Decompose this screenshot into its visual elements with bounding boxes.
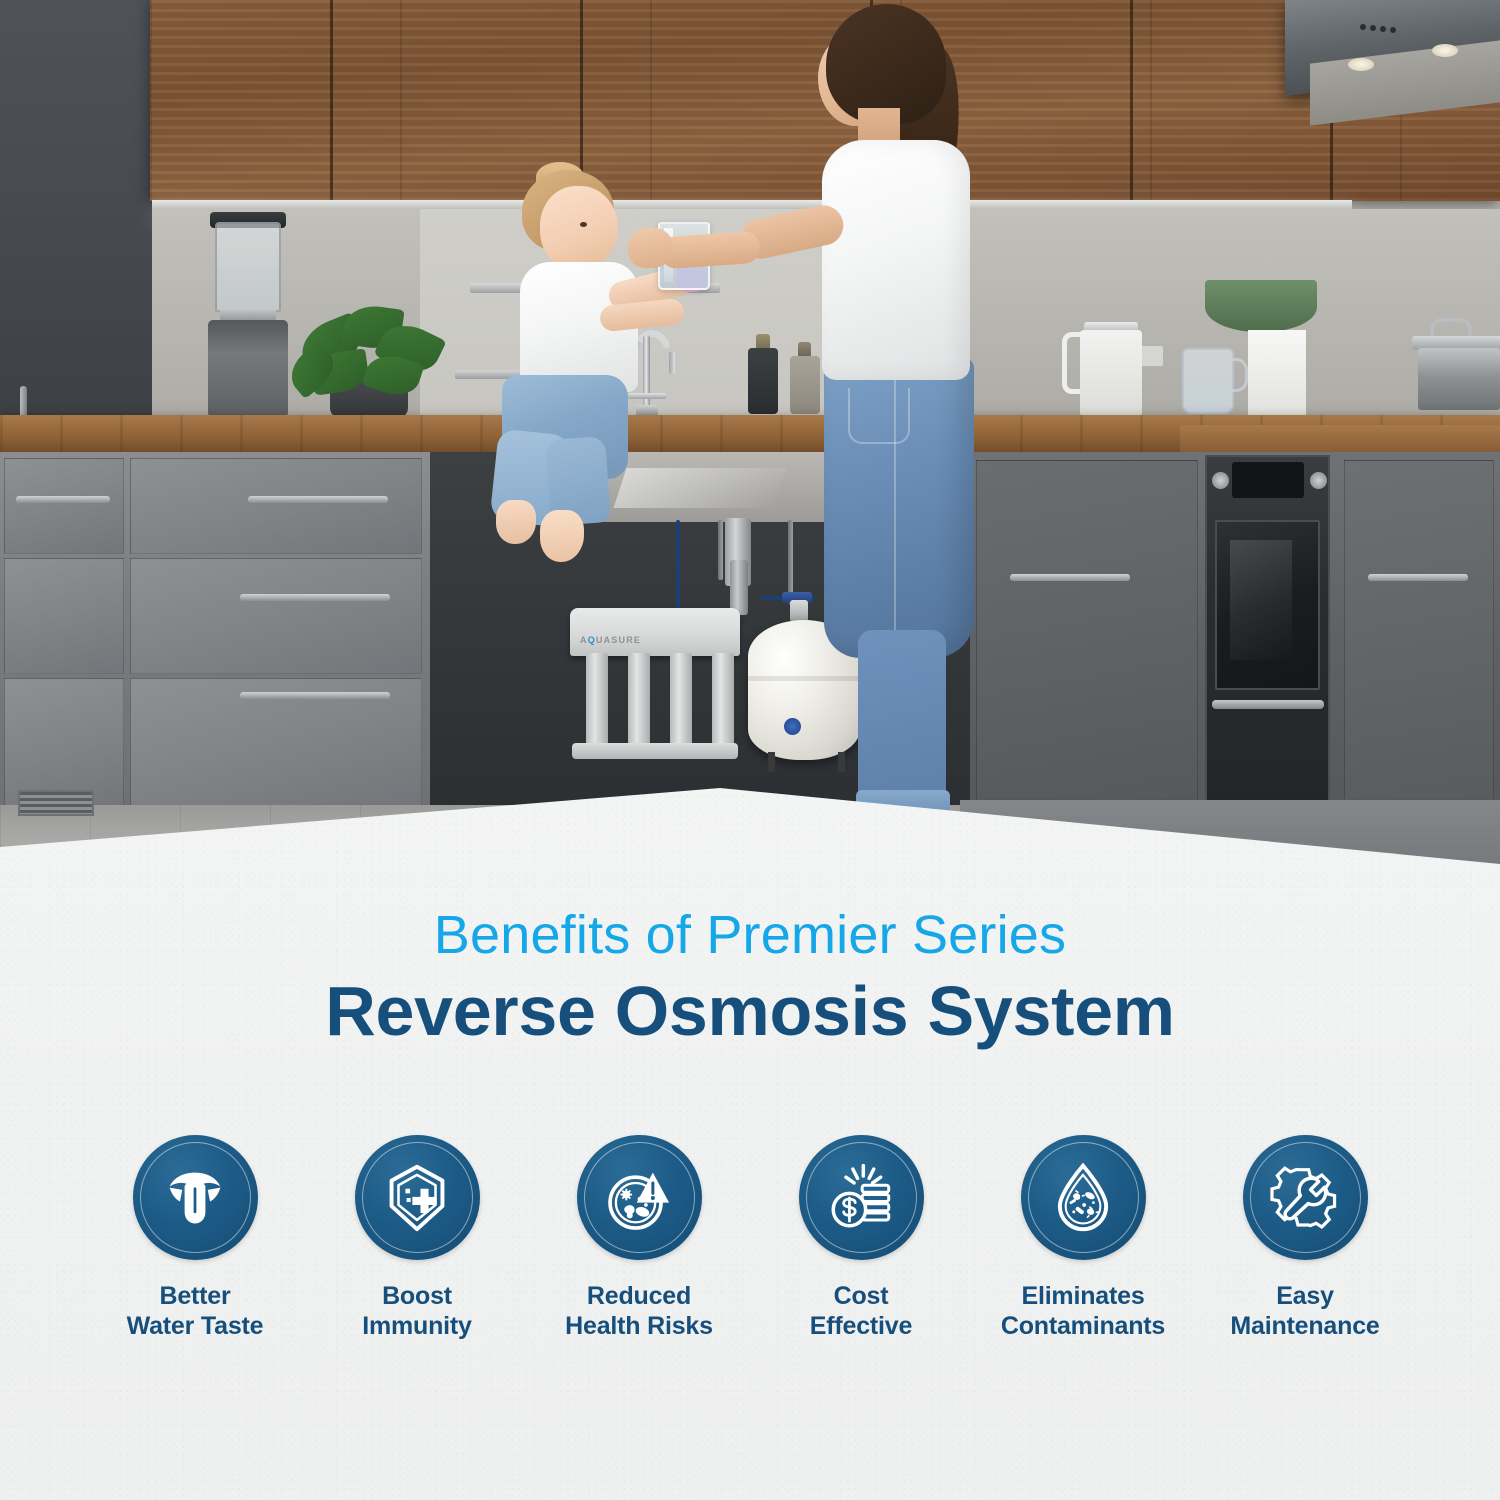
woman-figure	[800, 0, 1050, 870]
stainless-pot	[1418, 348, 1500, 410]
benefit-label-line1: Eliminates	[1001, 1282, 1165, 1312]
glass-pitcher	[1182, 348, 1234, 414]
woman-hand	[628, 228, 672, 268]
under-cabinet-light	[152, 200, 1352, 209]
oven-display	[1232, 462, 1304, 498]
soap-dispenser	[748, 348, 778, 414]
upper-cabinet-left	[0, 0, 152, 426]
benefit-label: Easy Maintenance	[1230, 1282, 1379, 1341]
ro-base-tray	[572, 743, 738, 759]
kitchen-photo: AQUASURE	[0, 0, 1500, 900]
benefit-icon-bubble	[577, 1135, 702, 1260]
benefit-label-line1: Cost	[810, 1282, 912, 1312]
benefit-label-line1: Reduced	[565, 1282, 713, 1312]
benefit-item-eliminates-contaminants[interactable]: Eliminates Contaminants	[972, 1135, 1194, 1341]
benefit-label: Cost Effective	[810, 1282, 912, 1341]
ro-filter-cartridge	[712, 653, 734, 745]
benefit-label: Better Water Taste	[127, 1282, 264, 1341]
benefit-label: Eliminates Contaminants	[1001, 1282, 1165, 1341]
base-cabinets-left	[0, 452, 430, 812]
blender-jar	[215, 222, 281, 312]
benefit-icon-bubble	[1021, 1135, 1146, 1260]
benefit-label-line1: Easy	[1230, 1282, 1379, 1312]
green-bowl	[1205, 280, 1317, 332]
benefit-icon-bubble	[1243, 1135, 1368, 1260]
woman-hair	[826, 4, 946, 124]
benefit-icon-bubble	[355, 1135, 480, 1260]
child-face	[540, 186, 618, 272]
woman-shirt	[822, 140, 970, 380]
ro-filtration-unit: AQUASURE	[570, 608, 740, 758]
drawer-handle-icon	[240, 692, 390, 699]
white-container	[1248, 330, 1306, 416]
jeans-pocket	[848, 388, 910, 444]
benefit-label-line2: Effective	[810, 1312, 912, 1342]
benefit-item-boost-immunity[interactable]: Boost Immunity	[306, 1135, 528, 1341]
drawer-handle-icon	[16, 496, 110, 503]
benefit-label-line2: Maintenance	[1230, 1312, 1379, 1342]
benefit-item-reduced-health-risks[interactable]: Reduced Health Risks	[528, 1135, 750, 1341]
hood-light-icon	[1432, 44, 1458, 57]
child-foot	[496, 500, 536, 544]
ro-manifold-head: AQUASURE	[570, 608, 740, 656]
benefit-item-better-water-taste[interactable]: Better Water Taste	[84, 1135, 306, 1341]
benefit-label: Reduced Health Risks	[565, 1282, 713, 1341]
ro-filter-cartridge	[586, 653, 608, 745]
headline-block: Benefits of Premier Series Reverse Osmos…	[0, 908, 1500, 1046]
electric-kettle	[1080, 330, 1142, 416]
benefit-label-line2: Immunity	[362, 1312, 472, 1342]
petri-dish-warning-icon	[602, 1161, 676, 1235]
benefit-item-easy-maintenance[interactable]: Easy Maintenance	[1194, 1135, 1416, 1341]
shield-plus-icon	[380, 1161, 454, 1235]
benefit-label-line1: Better	[127, 1282, 264, 1312]
marketing-banner: AQUASURE	[0, 0, 1500, 1500]
benefit-item-cost-effective[interactable]: Cost Effective	[750, 1135, 972, 1341]
mouth-tongue-icon	[158, 1161, 232, 1235]
benefits-row: Better Water Taste Boost Immunity	[0, 1135, 1500, 1395]
drawer-handle-icon	[1368, 574, 1468, 581]
ro-filter-cartridge	[670, 653, 692, 745]
drain-pipe-lower	[730, 560, 748, 615]
tank-port-icon	[784, 718, 801, 735]
blender-base	[208, 320, 288, 416]
headline-eyebrow: Benefits of Premier Series	[0, 908, 1500, 962]
benefit-label-line2: Health Risks	[565, 1312, 713, 1342]
wall-outlet	[1140, 345, 1164, 367]
benefit-icon-bubble	[799, 1135, 924, 1260]
ro-filter-cartridge	[628, 653, 650, 745]
benefit-label: Boost Immunity	[362, 1282, 472, 1341]
oven-handle-icon	[1212, 700, 1324, 709]
drawer-handle-icon	[248, 496, 388, 503]
benefit-label-line2: Contaminants	[1001, 1312, 1165, 1342]
drawer-handle-icon	[240, 594, 390, 601]
page-title: Reverse Osmosis System	[0, 976, 1500, 1046]
benefit-icon-bubble	[133, 1135, 258, 1260]
benefit-label-line2: Water Taste	[127, 1312, 264, 1342]
benefit-label-line1: Boost	[362, 1282, 472, 1312]
coins-dollar-icon	[824, 1161, 898, 1235]
gear-wrench-icon	[1268, 1161, 1342, 1235]
aquasure-logo: AQUASURE	[580, 635, 641, 645]
floor-vent	[18, 790, 94, 816]
water-droplet-germs-icon	[1046, 1161, 1120, 1235]
oven-knob-icon	[1212, 472, 1229, 489]
oven-knob-icon	[1310, 472, 1327, 489]
hood-light-icon	[1348, 58, 1374, 71]
